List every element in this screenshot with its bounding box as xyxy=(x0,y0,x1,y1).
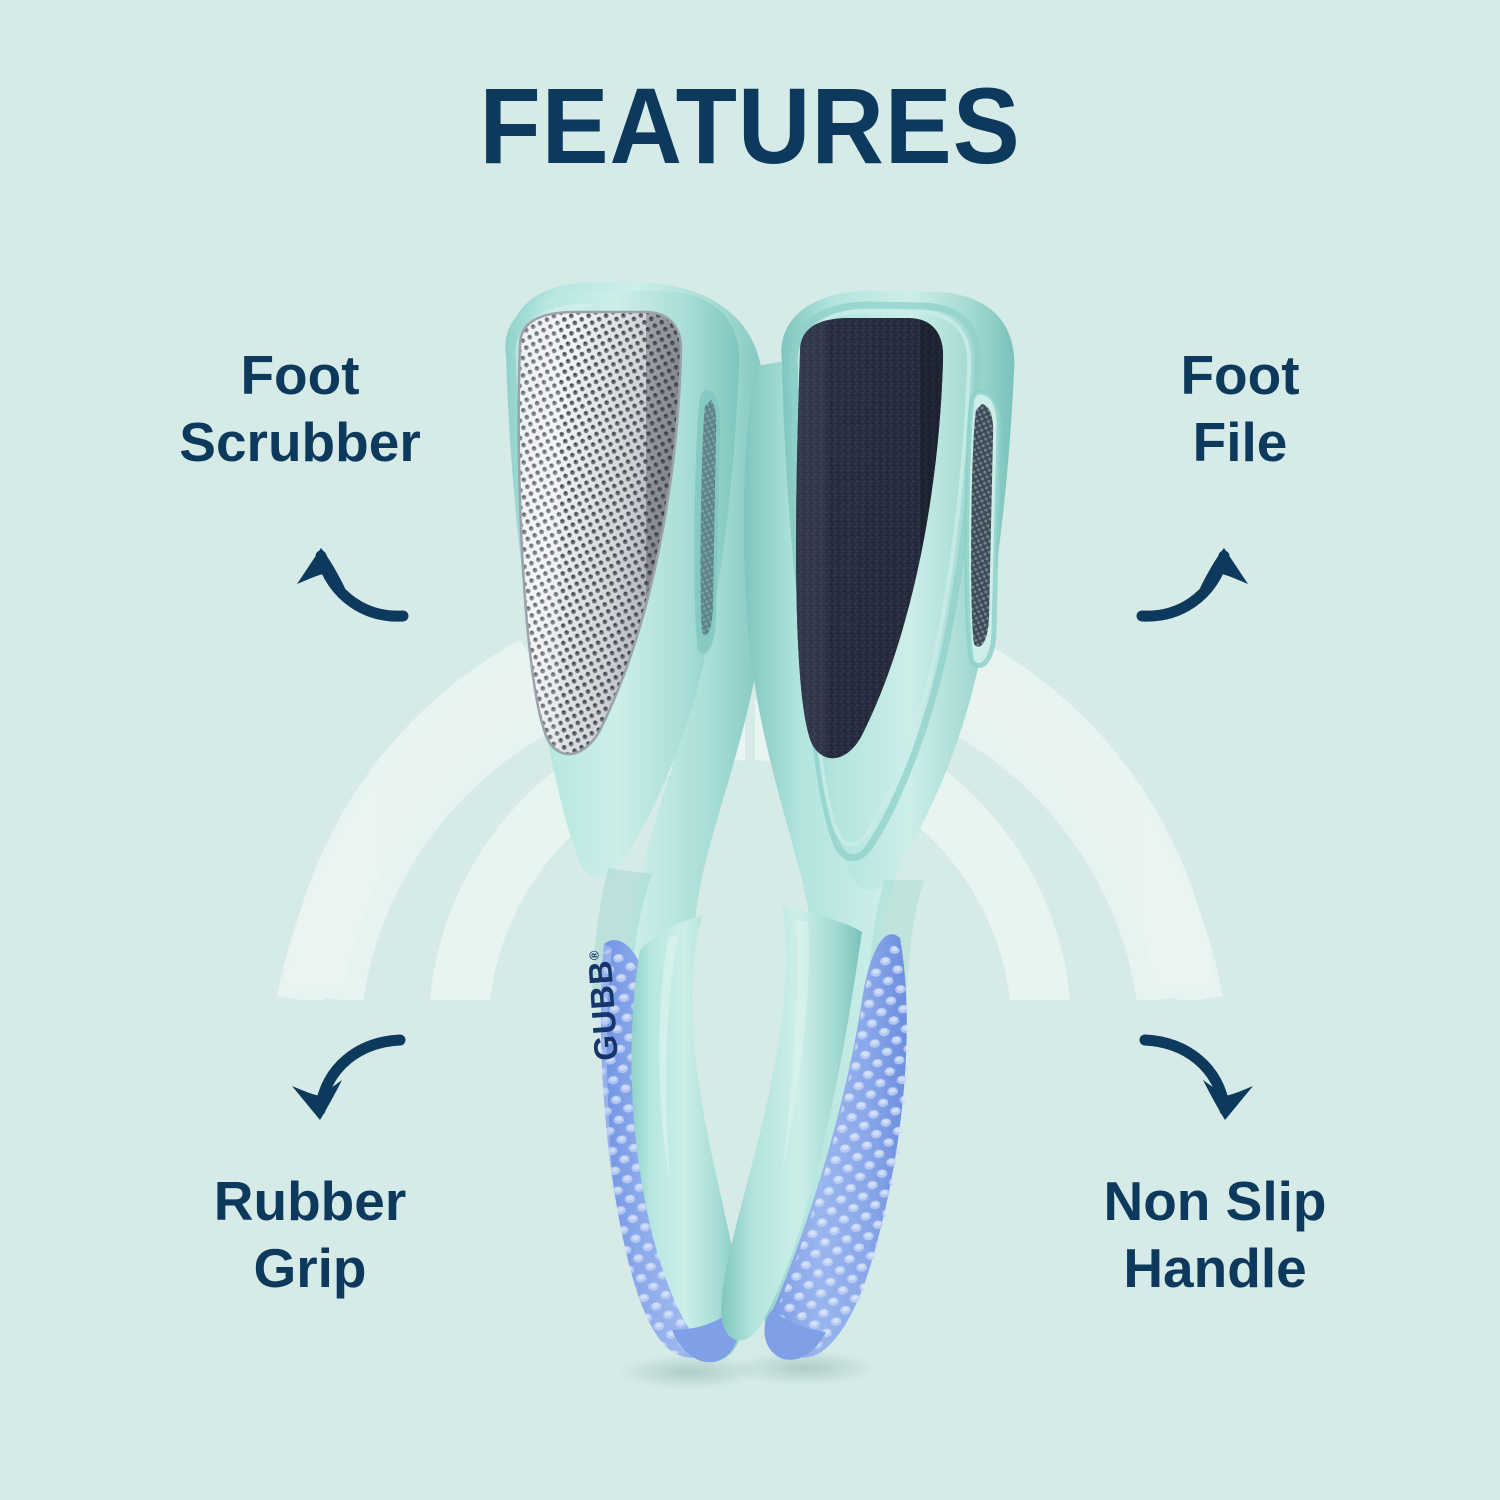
curved-arrow-down-left-icon xyxy=(280,1028,420,1158)
curved-arrow-up-right-icon xyxy=(1120,498,1260,638)
curved-arrow-down-right-icon xyxy=(1125,1028,1265,1158)
callout-label-non-slip-handle: Non Slip Handle xyxy=(1050,1168,1380,1302)
features-infographic: FEATURES xyxy=(0,0,1500,1500)
registered-mark: ® xyxy=(586,949,602,961)
brand-name: GUBB xyxy=(581,958,625,1062)
tool-left xyxy=(500,282,770,1380)
callout-label-rubber-grip: Rubber Grip xyxy=(150,1168,470,1302)
callout-label-foot-file: Foot File xyxy=(1090,342,1390,476)
curved-arrow-up-left-icon xyxy=(285,498,425,638)
tool-right xyxy=(721,291,1014,1380)
brand-logo: GUBB® xyxy=(580,948,626,1062)
callout-label-foot-scrubber: Foot Scrubber xyxy=(140,342,460,476)
